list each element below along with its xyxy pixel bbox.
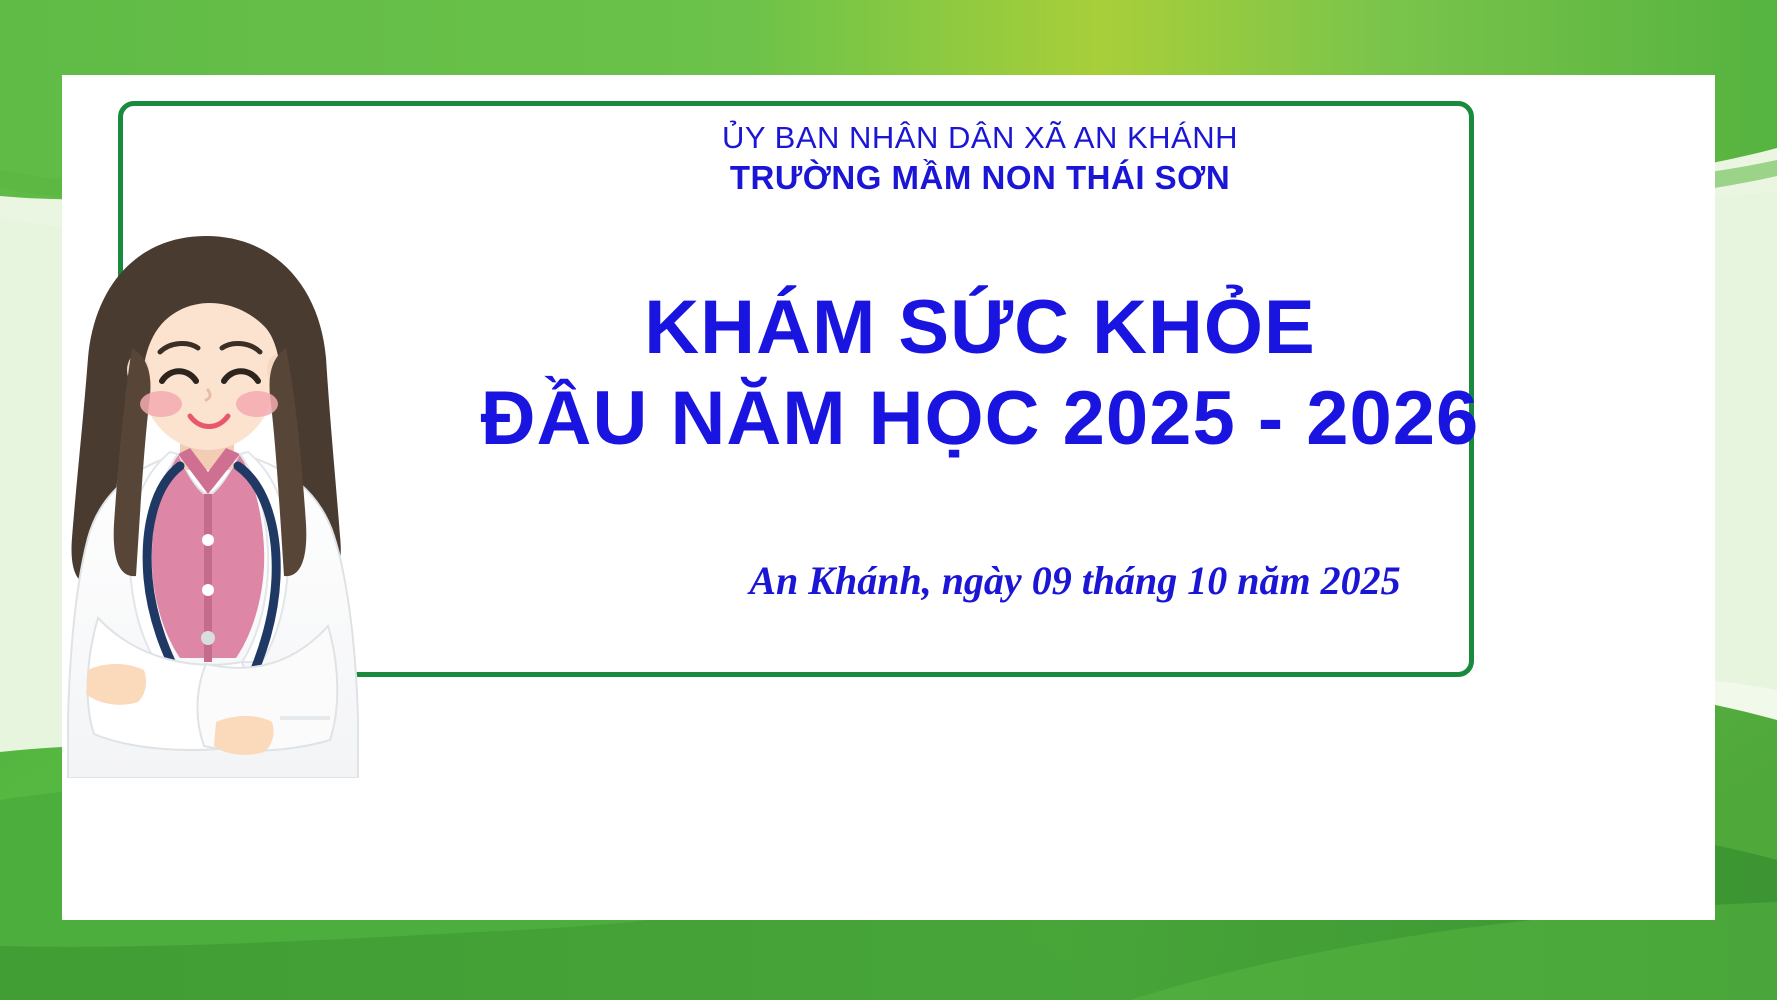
doctor-hand-right bbox=[214, 716, 274, 755]
doctor-coat-pocket bbox=[280, 716, 330, 720]
shirt-button-1 bbox=[202, 534, 214, 546]
main-title-line-2: ĐẦU NĂM HỌC 2025 - 2026 bbox=[330, 376, 1630, 461]
doctor-blush-left bbox=[140, 391, 182, 417]
school-name: TRƯỜNG MẦM NON THÁI SƠN bbox=[330, 159, 1630, 197]
main-title-line-1: KHÁM SỨC KHỎE bbox=[330, 285, 1630, 370]
coat-button bbox=[201, 631, 215, 645]
doctor-hand-left bbox=[86, 664, 146, 705]
shirt-button-2 bbox=[202, 584, 214, 596]
date-location-line: An Khánh, ngày 09 tháng 10 năm 2025 bbox=[330, 557, 1630, 604]
organization-name: ỦY BAN NHÂN DÂN XÃ AN KHÁNH bbox=[330, 120, 1630, 156]
doctor-blush-right bbox=[236, 391, 278, 417]
poster-text-block: ỦY BAN NHÂN DÂN XÃ AN KHÁNH TRƯỜNG MẦM N… bbox=[330, 120, 1630, 604]
poster-canvas: ỦY BAN NHÂN DÂN XÃ AN KHÁNH TRƯỜNG MẦM N… bbox=[0, 0, 1777, 1000]
main-title: KHÁM SỨC KHỎE ĐẦU NĂM HỌC 2025 - 2026 bbox=[330, 285, 1630, 461]
